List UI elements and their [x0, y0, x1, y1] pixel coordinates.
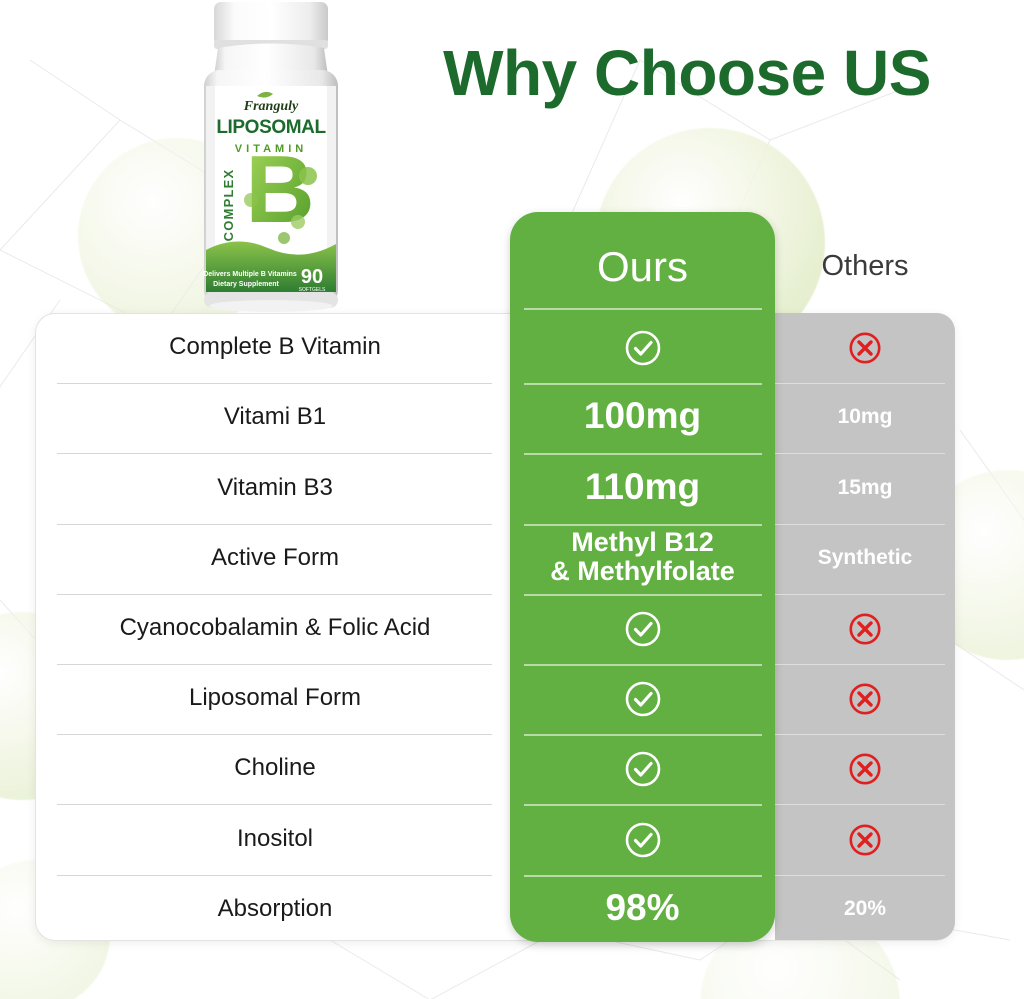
- row-divider-ours: [524, 875, 762, 877]
- ours-check-cell: [510, 328, 775, 368]
- cross-circle-icon: [847, 330, 883, 366]
- row-divider-others: [775, 383, 945, 384]
- check-circle-icon: [623, 328, 663, 368]
- row-divider-feature: [57, 524, 492, 525]
- ours-check-cell: [510, 749, 775, 789]
- others-cross-cell: [775, 611, 955, 647]
- row-divider-ours: [524, 524, 762, 526]
- row-divider-others: [775, 804, 945, 805]
- others-value-cell: 20%: [775, 897, 955, 920]
- cross-circle-icon: [847, 822, 883, 858]
- others-cross-cell: [775, 822, 955, 858]
- comparison-rows: Complete B Vitamin Vitami B1100mg10mgVit…: [0, 0, 1024, 999]
- row-divider-others: [775, 734, 945, 735]
- check-circle-icon: [623, 679, 663, 719]
- ours-value-cell: 110mg: [510, 467, 775, 508]
- row-label-cyanocobalamin-folic-acid: Cyanocobalamin & Folic Acid: [55, 614, 495, 642]
- row-divider-feature: [57, 804, 492, 805]
- ours-value-cell: 100mg: [510, 396, 775, 437]
- row-label-vitami-b1: Vitami B1: [55, 403, 495, 431]
- row-divider-feature: [57, 664, 492, 665]
- check-circle-icon: [623, 609, 663, 649]
- check-circle-icon: [623, 749, 663, 789]
- row-label-absorption: Absorption: [55, 895, 495, 923]
- row-label-active-form: Active Form: [55, 544, 495, 572]
- others-cross-cell: [775, 681, 955, 717]
- cross-circle-icon: [847, 751, 883, 787]
- row-label-vitamin-b3: Vitamin B3: [55, 474, 495, 502]
- others-value-cell: 15mg: [775, 476, 955, 499]
- check-circle-icon: [623, 820, 663, 860]
- row-label-liposomal-form: Liposomal Form: [55, 684, 495, 712]
- row-divider-ours: [524, 383, 762, 385]
- row-divider-ours: [524, 664, 762, 666]
- ours-value-cell: 98%: [510, 888, 775, 929]
- row-label-choline: Choline: [55, 754, 495, 782]
- row-divider-ours: [524, 804, 762, 806]
- others-cross-cell: [775, 751, 955, 787]
- row-divider-feature: [57, 734, 492, 735]
- row-divider-ours: [524, 734, 762, 736]
- ours-check-cell: [510, 679, 775, 719]
- ours-value-cell: Methyl B12& Methylfolate: [510, 528, 775, 587]
- cross-circle-icon: [847, 681, 883, 717]
- row-divider-others: [775, 664, 945, 665]
- row-divider-others: [775, 594, 945, 595]
- row-divider-ours: [524, 453, 762, 455]
- ours-check-cell: [510, 609, 775, 649]
- others-cross-cell: [775, 330, 955, 366]
- row-divider-others: [775, 875, 945, 876]
- row-divider-feature: [57, 875, 492, 876]
- others-value-cell: 10mg: [775, 405, 955, 428]
- row-divider-others: [775, 524, 945, 525]
- cross-circle-icon: [847, 611, 883, 647]
- others-value-cell: Synthetic: [775, 546, 955, 569]
- row-divider-ours: [524, 594, 762, 596]
- ours-check-cell: [510, 820, 775, 860]
- row-label-inositol: Inositol: [55, 825, 495, 853]
- row-divider-feature: [57, 594, 492, 595]
- ours-header-divider: [524, 308, 762, 310]
- row-divider-feature: [57, 453, 492, 454]
- row-divider-feature: [57, 383, 492, 384]
- row-divider-others: [775, 453, 945, 454]
- row-label-complete-b-vitamin: Complete B Vitamin: [55, 333, 495, 361]
